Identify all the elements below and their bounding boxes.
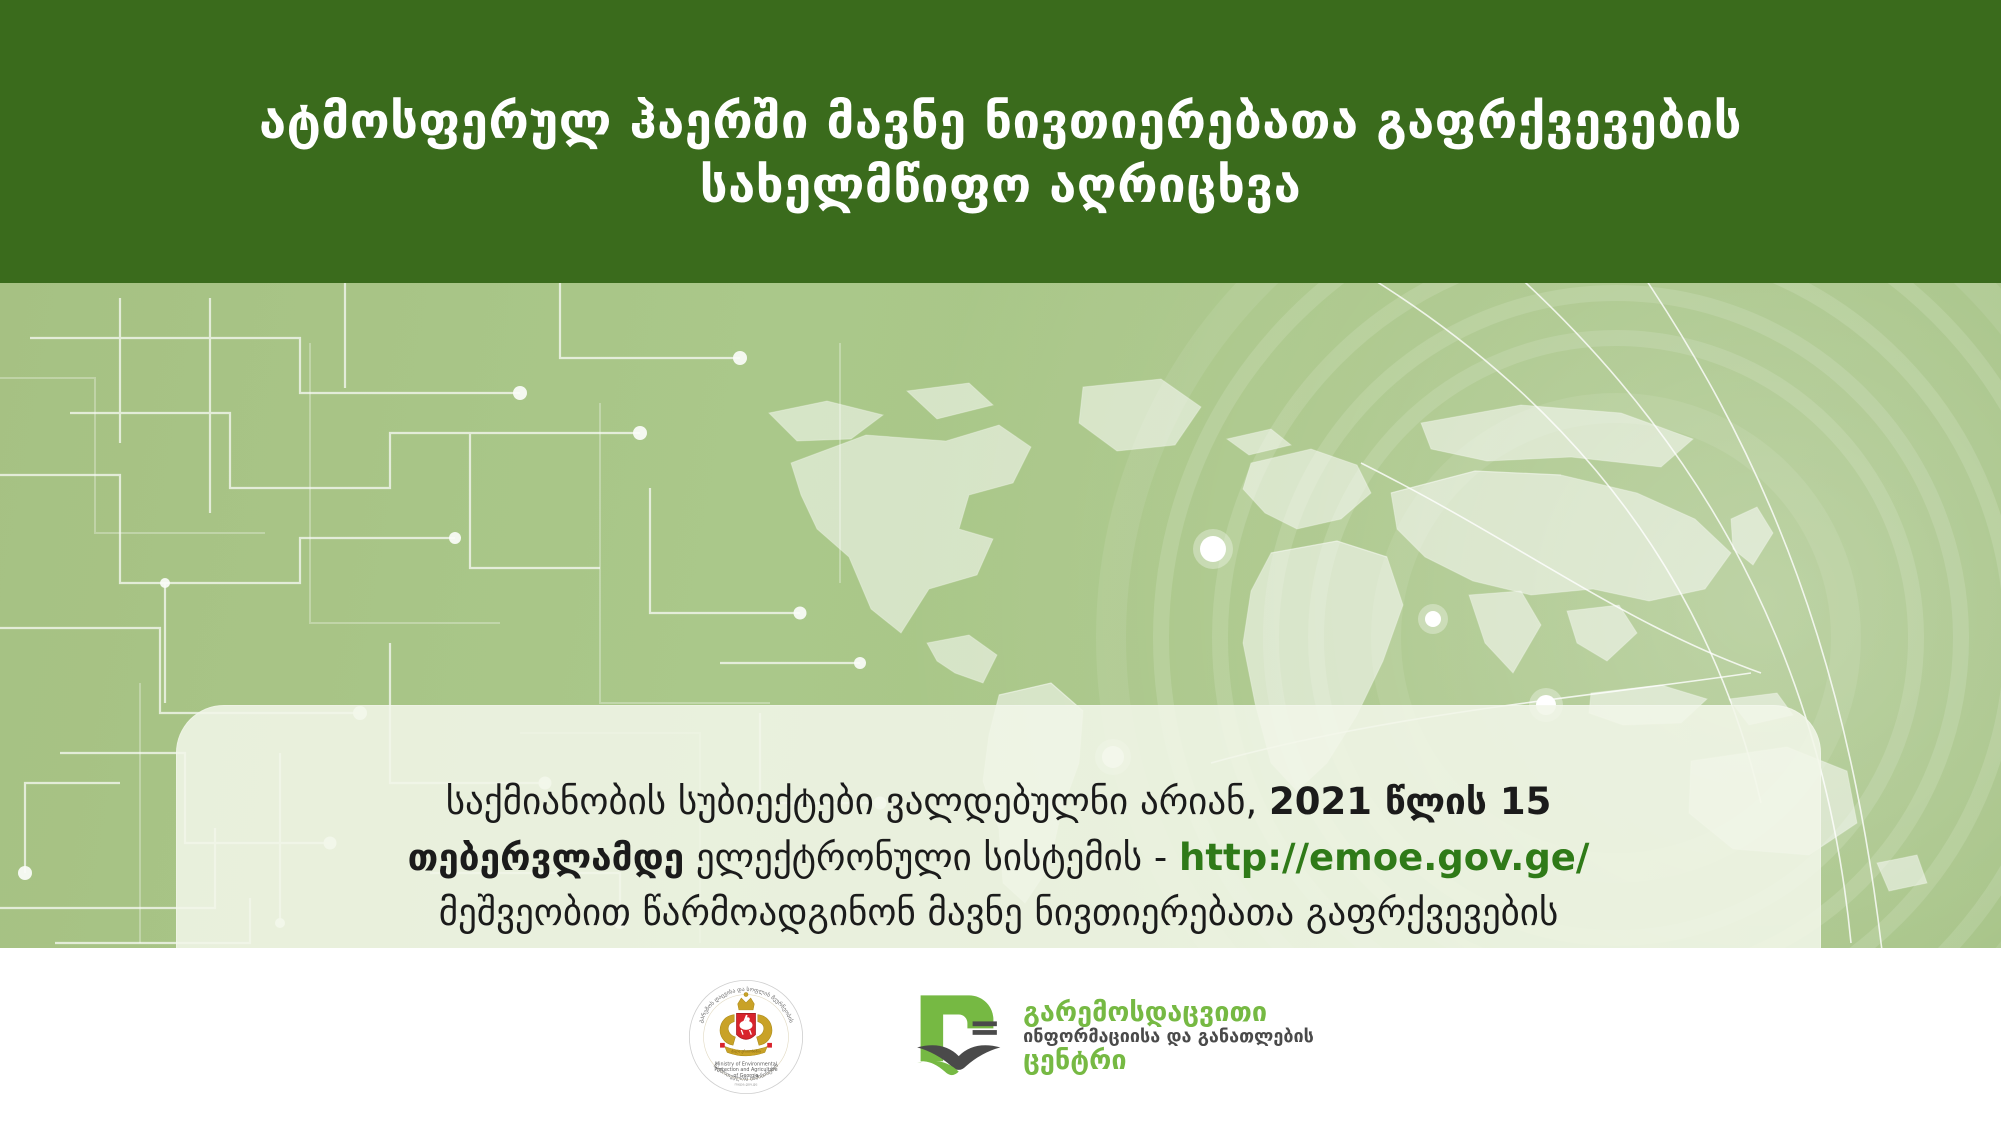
footer-logos: გარემოს დაცვისა და სოფლის მეურნეობის საქ… bbox=[0, 948, 2001, 1125]
eiec-line-2: ინფორმაციისა და განათლების bbox=[1023, 1027, 1314, 1046]
poster-root: ატმოსფერულ ჰაერში მავნე ნივთიერებათა გაფ… bbox=[0, 0, 2001, 1125]
info-line-2-part-b: ელექტრონული სისტემის - bbox=[684, 836, 1179, 879]
seal-caption-3: of Georgia bbox=[734, 1073, 759, 1079]
eiec-logo-text: გარემოსდაცვითი ინფორმაციისა და განათლები… bbox=[1023, 998, 1314, 1076]
info-card-text: საქმიანობის სუბიექტები ვალდებულნი არიან,… bbox=[176, 705, 1821, 948]
emoe-portal-link[interactable]: http://emoe.gov.ge/ bbox=[1179, 836, 1589, 879]
info-line-3: მეშვეობით წარმოადგინონ მავნე ნივთიერებათ… bbox=[439, 885, 1559, 941]
info-line-1-part-b: 2021 წლის 15 bbox=[1269, 780, 1551, 823]
page-title-line1: ატმოსფერულ ჰაერში მავნე ნივთიერებათა გაფ… bbox=[259, 93, 1742, 151]
eiec-mark-icon bbox=[905, 985, 1009, 1089]
eiec-logo: გარემოსდაცვითი ინფორმაციისა და განათლები… bbox=[905, 985, 1314, 1089]
header-banner: ატმოსფერულ ჰაერში მავნე ნივთიერებათა გაფ… bbox=[0, 0, 2001, 283]
info-line-1: საქმიანობის სუბიექტები ვალდებულნი არიან,… bbox=[446, 774, 1552, 830]
info-line-2-deadline: თებერვლამდე bbox=[408, 836, 685, 879]
content-band: საქმიანობის სუბიექტები ვალდებულნი არიან,… bbox=[0, 283, 2001, 948]
seal-caption-1: Ministry of Environmental bbox=[715, 1061, 777, 1067]
svg-text:ძალა ერთობაშია: ძალა ერთობაშია bbox=[731, 1049, 761, 1053]
info-line-1-part-a: საქმიანობის სუბიექტები ვალდებულნი არიან, bbox=[446, 780, 1269, 823]
ministry-seal-logo: გარემოს დაცვისა და სოფლის მეურნეობის საქ… bbox=[687, 978, 805, 1096]
info-line-4: სახელმწიფო აღრიცხვის ფორმა bbox=[710, 941, 1288, 949]
map-node-samerica bbox=[1425, 611, 1441, 627]
page-title-line2: სახელმწიფო აღრიცხვა bbox=[700, 157, 1302, 215]
seal-caption-4: mepa.gov.ge bbox=[735, 1082, 758, 1086]
info-card: საქმიანობის სუბიექტები ვალდებულნი არიან,… bbox=[176, 705, 1821, 948]
seal-caption-2: Protection and Agriculture bbox=[715, 1067, 778, 1073]
map-node-asia bbox=[1200, 536, 1226, 562]
eiec-line-3: ცენტრი bbox=[1023, 1046, 1314, 1075]
eiec-line-1: გარემოსდაცვითი bbox=[1023, 998, 1314, 1027]
info-line-2: თებერვლამდე ელექტრონული სისტემის - http:… bbox=[408, 830, 1590, 886]
